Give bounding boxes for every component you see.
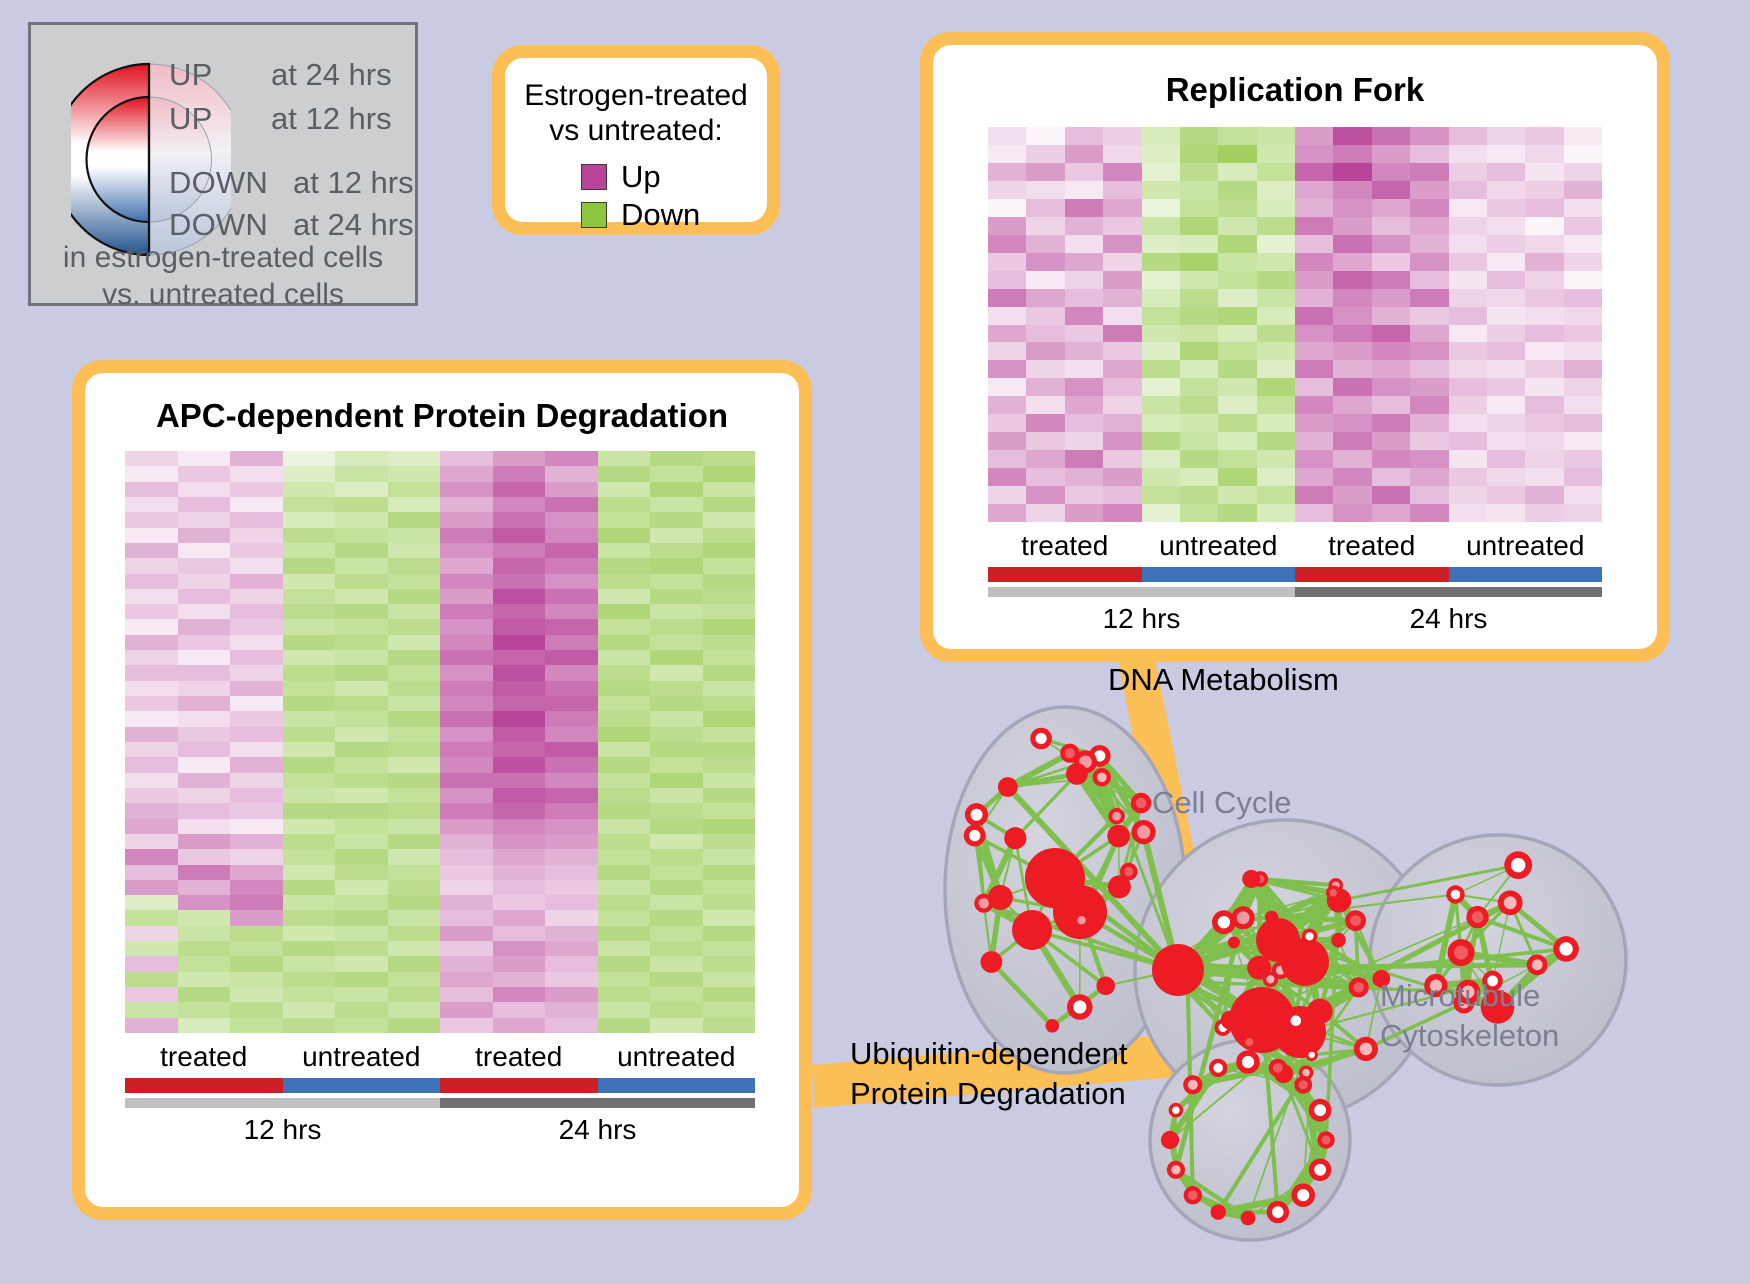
heatmap-cell	[1103, 450, 1141, 468]
heatmap-cell	[440, 451, 493, 466]
heatmap-cell	[1449, 414, 1487, 432]
heatmap-cell	[493, 497, 546, 512]
heatmap-cell	[388, 466, 441, 481]
heatmap-cell	[650, 849, 703, 864]
heatmap-cell	[388, 895, 441, 910]
heatmap-cell	[988, 181, 1026, 199]
heatmap-cell	[178, 604, 231, 619]
heatmap-cell	[388, 451, 441, 466]
heatmap-cell	[125, 773, 178, 788]
label-microtubule: Microtubule	[1380, 978, 1540, 1014]
heatmap-cell	[988, 127, 1026, 145]
heatmap-cell	[283, 543, 336, 558]
heatmap-cell	[545, 972, 598, 987]
heatmap-cell	[1180, 199, 1218, 217]
heatmap-cell	[230, 788, 283, 803]
heatmap-cell	[230, 972, 283, 987]
heatmap-cell	[650, 926, 703, 941]
heatmap-cell	[178, 497, 231, 512]
heatmap-cell	[388, 803, 441, 818]
heatmap-cell	[178, 834, 231, 849]
heatmap-cell	[1026, 325, 1064, 343]
heatmap-cell	[335, 681, 388, 696]
heatmap-cell	[283, 926, 336, 941]
heatmap-cell	[703, 819, 756, 834]
heatmap-cell	[1257, 163, 1295, 181]
heatmap-cell	[1372, 145, 1410, 163]
heatmap-cell	[388, 711, 441, 726]
heatmap-cell	[230, 512, 283, 527]
heatmap-cell	[1180, 289, 1218, 307]
heatmap-cell	[1333, 289, 1371, 307]
heatmap-cell	[1026, 217, 1064, 235]
apc-cond-1: untreated	[283, 1041, 441, 1073]
heatmap-cell	[1449, 468, 1487, 486]
heatmap-cell	[1065, 504, 1103, 522]
heatmap-cell	[1487, 414, 1525, 432]
heatmap-cell	[493, 926, 546, 941]
heatmap-cell	[1103, 127, 1141, 145]
heatmap-cell	[1295, 307, 1333, 325]
heatmap-cell	[703, 512, 756, 527]
heatmap-cell	[1410, 289, 1448, 307]
heatmap-cell	[1103, 414, 1141, 432]
heatmap-cell	[335, 926, 388, 941]
heatmap-cell	[1333, 504, 1371, 522]
heatmap-cell	[1142, 396, 1180, 414]
heatmap-cell	[988, 450, 1026, 468]
heatmap-cell	[493, 788, 546, 803]
heatmap-cell	[598, 742, 651, 757]
heatmap-cell	[703, 650, 756, 665]
heatmap-cell	[335, 696, 388, 711]
heatmap-cell	[650, 589, 703, 604]
heatmap-cell	[545, 757, 598, 772]
network-diagram: DNA Metabolism Cell Cycle Microtubule Cy…	[880, 640, 1750, 1279]
heatmap-cell	[440, 512, 493, 527]
heatmap-cell	[230, 574, 283, 589]
heatmap-cell	[178, 1002, 231, 1017]
heatmap-cell	[230, 466, 283, 481]
heatmap-cell	[1525, 450, 1563, 468]
heatmap-cell	[178, 865, 231, 880]
heatmap-cell	[1564, 504, 1602, 522]
heatmap-cell	[335, 865, 388, 880]
rf-condition-labels: treated untreated treated untreated	[988, 530, 1602, 562]
heatmap-cell	[1449, 450, 1487, 468]
replication-fork-panel-inner: Replication Fork treated untreated treat…	[933, 45, 1657, 649]
heatmap-cell	[703, 972, 756, 987]
heatmap-cell	[1564, 414, 1602, 432]
heatmap-cell	[283, 619, 336, 634]
heatmap-cell	[1218, 396, 1256, 414]
heatmap-cell	[1103, 468, 1141, 486]
heatmap-cell	[703, 1018, 756, 1033]
heatmap-cell	[1372, 127, 1410, 145]
heatmap-cell	[988, 145, 1026, 163]
heatmap-cell	[1333, 217, 1371, 235]
heatmap-cell	[1295, 468, 1333, 486]
heatmap-cell	[125, 941, 178, 956]
heatmap-cell	[1257, 271, 1295, 289]
heatmap-cell	[1257, 342, 1295, 360]
heatmap-cell	[598, 665, 651, 680]
heatmap-cell	[1142, 504, 1180, 522]
heatmap-cell	[1180, 271, 1218, 289]
heatmap-cell	[493, 558, 546, 573]
heatmap-cell	[493, 865, 546, 880]
heatmap-cell	[1525, 432, 1563, 450]
heatmap-cell	[1103, 271, 1141, 289]
heatmap-cell	[650, 727, 703, 742]
heatmap-cell	[545, 895, 598, 910]
heatmap-cell	[598, 451, 651, 466]
heatmap-cell	[283, 482, 336, 497]
heatmap-cell	[1564, 127, 1602, 145]
heatmap-cell	[388, 941, 441, 956]
heatmap-cell	[1257, 360, 1295, 378]
heatmap-cell	[388, 604, 441, 619]
heatmap-cell	[1065, 325, 1103, 343]
heatmap-cell	[650, 619, 703, 634]
heatmap-cell	[440, 849, 493, 864]
heatmap-cell	[1142, 450, 1180, 468]
apc-condition-bar	[125, 1078, 755, 1093]
heatmap-cell	[1142, 307, 1180, 325]
heatmap-cell	[1257, 325, 1295, 343]
heatmap-cell	[125, 803, 178, 818]
heatmap-cell	[125, 865, 178, 880]
heatmap-cell	[1372, 217, 1410, 235]
heatmap-cell	[1218, 307, 1256, 325]
heatmap-cell	[230, 910, 283, 925]
heatmap-cell	[1103, 432, 1141, 450]
heatmap-cell	[1564, 289, 1602, 307]
heatmap-cell	[1449, 163, 1487, 181]
heatmap-cell	[703, 589, 756, 604]
heatmap-cell	[1065, 396, 1103, 414]
heatmap-cell	[703, 910, 756, 925]
heatmap-cell	[388, 742, 441, 757]
heatmap-cell	[1142, 145, 1180, 163]
heatmap-cell	[125, 1018, 178, 1033]
heatmap-cell	[283, 665, 336, 680]
heatmap-cell	[1295, 342, 1333, 360]
rf-bar-treated-12	[988, 567, 1142, 582]
heatmap-cell	[650, 711, 703, 726]
heatmap-cell	[598, 773, 651, 788]
heatmap-cell	[1449, 504, 1487, 522]
heatmap-cell	[1295, 504, 1333, 522]
heatmap-cell	[988, 289, 1026, 307]
heatmap-cell	[650, 773, 703, 788]
heatmap-cell	[1487, 235, 1525, 253]
heatmap-cell	[1065, 486, 1103, 504]
heatmap-cell	[1525, 486, 1563, 504]
heatmap-cell	[283, 574, 336, 589]
heatmap-cell	[1449, 289, 1487, 307]
heatmap-cell	[1449, 127, 1487, 145]
heatmap-cell	[388, 681, 441, 696]
heatmap-cell	[1449, 325, 1487, 343]
heatmap-cell	[545, 619, 598, 634]
heatmap-cell	[125, 1002, 178, 1017]
heatmap-cell	[703, 803, 756, 818]
heatmap-cell	[388, 589, 441, 604]
heatmap-cell	[1295, 163, 1333, 181]
heatmap-cell	[1564, 432, 1602, 450]
heatmap-cell	[1410, 360, 1448, 378]
heatmap-cell	[988, 235, 1026, 253]
heatmap-cell	[598, 956, 651, 971]
heatmap-cell	[545, 665, 598, 680]
heatmap-cell	[230, 742, 283, 757]
heatmap-cell	[1372, 450, 1410, 468]
heatmap-cell	[1026, 235, 1064, 253]
heatmap-cell	[493, 987, 546, 1002]
heatmap-cell	[1333, 253, 1371, 271]
heatmap-cell	[1257, 235, 1295, 253]
heatmap-cell	[703, 865, 756, 880]
heatmap-cell	[650, 451, 703, 466]
heatmap-cell	[493, 466, 546, 481]
heatmap-cell	[493, 635, 546, 650]
heatmap-cell	[440, 956, 493, 971]
heatmap-cell	[493, 803, 546, 818]
heatmap-cell	[283, 512, 336, 527]
heatmap-cell	[1065, 289, 1103, 307]
heatmap-cell	[1487, 127, 1525, 145]
heatmap-cell	[440, 604, 493, 619]
heatmap-cell	[1333, 163, 1371, 181]
heatmap-cell	[1449, 378, 1487, 396]
heatmap-cell	[283, 865, 336, 880]
heatmap-cell	[1065, 199, 1103, 217]
heatmap-cell	[283, 956, 336, 971]
heatmap-cell	[335, 956, 388, 971]
heatmap-cell	[1142, 432, 1180, 450]
heatmap-cell	[125, 742, 178, 757]
heatmap-cell	[545, 865, 598, 880]
heatmap-cell	[1372, 181, 1410, 199]
heatmap-cell	[230, 834, 283, 849]
heatmap-cell	[1410, 378, 1448, 396]
rf-cond-3: untreated	[1449, 530, 1603, 562]
heatmap-cell	[650, 895, 703, 910]
heatmap-cell	[703, 451, 756, 466]
heatmap-cell	[1449, 342, 1487, 360]
heatmap-cell	[1180, 163, 1218, 181]
heatmap-cell	[1026, 199, 1064, 217]
heatmap-cell	[1218, 342, 1256, 360]
heatmap-cell	[1257, 127, 1295, 145]
heatmap-cell	[1525, 396, 1563, 414]
heatmap-cell	[703, 1002, 756, 1017]
heatmap-cell	[1564, 271, 1602, 289]
heatmap-cell	[598, 619, 651, 634]
apc-bar-treated-12	[125, 1078, 283, 1093]
heatmap-cell	[178, 1018, 231, 1033]
heatmap-cell	[125, 619, 178, 634]
heatmap-cell	[1372, 289, 1410, 307]
heatmap-cell	[335, 788, 388, 803]
heatmap-cell	[1525, 468, 1563, 486]
heatmap-cell	[1026, 450, 1064, 468]
heatmap-cell	[1333, 396, 1371, 414]
heatmap-cell	[1410, 145, 1448, 163]
heatmap-cell	[598, 497, 651, 512]
heatmap-cell	[1487, 271, 1525, 289]
heatmap-cell	[493, 543, 546, 558]
heatmap-cell	[440, 834, 493, 849]
heatmap-cell	[545, 681, 598, 696]
heatmap-cell	[1525, 307, 1563, 325]
heatmap-cell	[178, 650, 231, 665]
heatmap-cell	[545, 451, 598, 466]
heatmap-cell	[1525, 271, 1563, 289]
heatmap-cell	[125, 650, 178, 665]
heatmap-cell	[1142, 235, 1180, 253]
heatmap-cell	[1065, 450, 1103, 468]
heatmap-cell	[1295, 432, 1333, 450]
heatmap-cell	[988, 378, 1026, 396]
heatmap-cell	[598, 757, 651, 772]
heatmap-cell	[1487, 217, 1525, 235]
rf-cond-0: treated	[988, 530, 1142, 562]
heatmap-cell	[650, 834, 703, 849]
heatmap-cell	[493, 696, 546, 711]
apc-timebar-12	[125, 1098, 440, 1108]
heatmap-cell	[125, 727, 178, 742]
heatmap-cell	[440, 665, 493, 680]
heatmap-cell	[335, 711, 388, 726]
heatmap-cell	[1218, 181, 1256, 199]
heatmap-cell	[1142, 289, 1180, 307]
heatmap-cell	[125, 788, 178, 803]
heatmap-cell	[1487, 468, 1525, 486]
heatmap-cell	[598, 895, 651, 910]
heatmap-cell	[703, 681, 756, 696]
heatmap-cell	[283, 451, 336, 466]
heatmap-cell	[988, 253, 1026, 271]
heatmap-cell	[388, 482, 441, 497]
heatmap-cell	[1525, 199, 1563, 217]
heatmap-cell	[545, 956, 598, 971]
heatmap-cell	[1487, 253, 1525, 271]
heatmap-cell	[335, 1018, 388, 1033]
heatmap-cell	[230, 482, 283, 497]
heatmap-cell	[125, 528, 178, 543]
heatmap-cell	[1333, 235, 1371, 253]
heatmap-cell	[650, 696, 703, 711]
heatmap-cell	[230, 757, 283, 772]
heatmap-cell	[1372, 414, 1410, 432]
heatmap-cell	[388, 635, 441, 650]
heatmap-cell	[1410, 325, 1448, 343]
heatmap-cell	[335, 834, 388, 849]
heatmap-cell	[1103, 145, 1141, 163]
heatmap-cell	[545, 589, 598, 604]
heatmap-cell	[283, 788, 336, 803]
heatmap-cell	[230, 451, 283, 466]
heatmap-cell	[1372, 163, 1410, 181]
heatmap-cell	[493, 757, 546, 772]
heatmap-cell	[493, 451, 546, 466]
heatmap-cell	[388, 972, 441, 987]
heatmap-cell	[1103, 163, 1141, 181]
replication-fork-panel: Replication Fork treated untreated treat…	[920, 32, 1670, 662]
heatmap-cell	[178, 681, 231, 696]
heatmap-cell	[703, 466, 756, 481]
heatmap-cell	[1410, 271, 1448, 289]
heatmap-cell	[545, 1002, 598, 1017]
heatmap-cell	[125, 558, 178, 573]
heatmap-cell	[1410, 235, 1448, 253]
heatmap-cell	[440, 543, 493, 558]
replication-fork-title: Replication Fork	[933, 45, 1657, 109]
apc-condition-labels: treated untreated treated untreated	[125, 1041, 755, 1073]
heatmap-cell	[703, 987, 756, 1002]
heatmap-cell	[1449, 235, 1487, 253]
heatmap-cell	[1295, 360, 1333, 378]
heatmap-cell	[1449, 432, 1487, 450]
heatmap-cell	[178, 543, 231, 558]
rf-condition-bar	[988, 567, 1602, 582]
heatmap-cell	[598, 574, 651, 589]
heatmap-cell	[440, 773, 493, 788]
heatmap-cell	[598, 635, 651, 650]
heatmap-cell	[1487, 396, 1525, 414]
heatmap-cell	[1449, 253, 1487, 271]
heatmap-cell	[703, 711, 756, 726]
heatmap-cell	[493, 528, 546, 543]
heatmap-cell	[440, 803, 493, 818]
heatmap-cell	[1142, 253, 1180, 271]
heatmap-cell	[1180, 307, 1218, 325]
heatmap-cell	[1410, 396, 1448, 414]
heatmap-cell	[178, 558, 231, 573]
heatmap-cell	[598, 711, 651, 726]
heatmap-cell	[1564, 235, 1602, 253]
heatmap-cell	[545, 941, 598, 956]
heatmap-cell	[650, 880, 703, 895]
heatmap-cell	[1295, 325, 1333, 343]
heatmap-cell	[1564, 450, 1602, 468]
heatmap-cell	[1410, 307, 1448, 325]
heatmap-cell	[1026, 414, 1064, 432]
heatmap-cell	[1257, 181, 1295, 199]
heatmap-cell	[283, 727, 336, 742]
heatmap-cell	[1180, 217, 1218, 235]
heatmap-cell	[1026, 307, 1064, 325]
heatmap-cell	[388, 834, 441, 849]
heatmap-cell	[1487, 342, 1525, 360]
heatmap-cell	[598, 543, 651, 558]
heatmap-cell	[1026, 360, 1064, 378]
heatmap-cell	[1333, 145, 1371, 163]
heatmap-cell	[1142, 199, 1180, 217]
heatmap-cell	[650, 635, 703, 650]
apc-bar-untreated-24	[598, 1078, 756, 1093]
heatmap-cell	[125, 665, 178, 680]
heatmap-cell	[1065, 432, 1103, 450]
heatmap-cell	[1065, 127, 1103, 145]
heatmap-cell	[283, 1018, 336, 1033]
heatmap-cell	[178, 788, 231, 803]
heatmap-cell	[1257, 486, 1295, 504]
heatmap-cell	[1103, 504, 1141, 522]
heatmap-cell	[230, 711, 283, 726]
